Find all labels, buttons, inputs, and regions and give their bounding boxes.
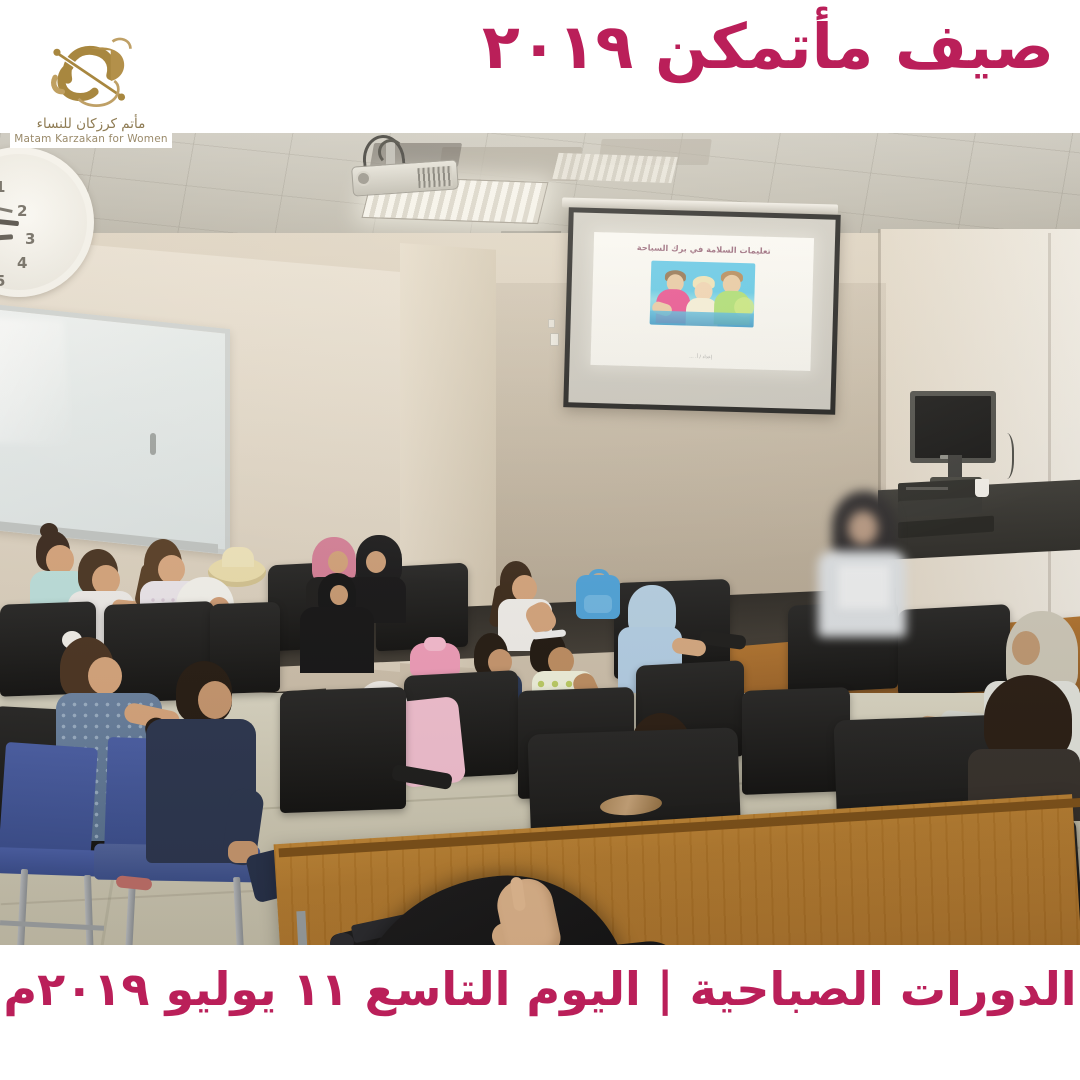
clock-hand-second bbox=[0, 198, 13, 213]
child-k-head bbox=[198, 681, 232, 719]
slide-pool-water bbox=[650, 311, 754, 328]
clock-number-5: 5 bbox=[0, 272, 5, 290]
slide-photo-children-swimming bbox=[650, 261, 756, 328]
clock-number-4: 4 bbox=[17, 254, 27, 272]
poster-root: صيف مأتمكن ٢٠١٩ مأتم كرزكان للنساء Matam… bbox=[0, 0, 1080, 1080]
clock-hand-minute bbox=[0, 234, 13, 243]
whiteboard-glare bbox=[0, 317, 72, 445]
projection-screen: تعليمات السلامة في برك السباحة bbox=[563, 207, 840, 415]
computer-monitor bbox=[910, 391, 996, 463]
wall-switch-upper bbox=[548, 319, 555, 328]
slide-title: تعليمات السلامة في برك السباحة bbox=[637, 242, 771, 256]
event-photograph: ١٢ 1 2 3 4 5 6 تعليمات السلامة في برك ال… bbox=[0, 133, 1080, 945]
woman-black-abaya-face bbox=[366, 551, 386, 573]
monitor-cable bbox=[996, 433, 1014, 479]
projector-cable-loop bbox=[378, 139, 404, 165]
projector-vent bbox=[417, 166, 452, 188]
clock-number-3: 3 bbox=[25, 230, 35, 248]
straw-hat-crown bbox=[222, 547, 254, 567]
paper-cup bbox=[975, 479, 989, 497]
wall-switch bbox=[550, 333, 559, 346]
presenter-face-blurred bbox=[848, 511, 878, 545]
woman-grey-hijab-face bbox=[1012, 631, 1040, 665]
whiteboard-handle bbox=[150, 433, 156, 455]
blue-backpack-pocket bbox=[584, 595, 612, 613]
clock-number-2: 2 bbox=[17, 202, 27, 220]
chair-mid-1 bbox=[280, 687, 406, 813]
child-e-head bbox=[512, 575, 537, 602]
blue-backpack-strap bbox=[588, 569, 610, 583]
child-l-head bbox=[88, 657, 122, 695]
projection-screen-surface: تعليمات السلامة في برك السباحة bbox=[568, 212, 835, 409]
organization-logo: مأتم كرزكان للنساء Matam Karzakan for Wo… bbox=[10, 8, 172, 148]
pc-drive-slot bbox=[906, 487, 948, 490]
logo-arabic-name: مأتم كرزكان للنساء bbox=[37, 116, 146, 132]
page-title: صيف مأتمكن ٢٠١٩ bbox=[482, 14, 1054, 79]
footer-band: الدورات الصباحية | اليوم التاسع ١١ يوليو… bbox=[0, 945, 1080, 1080]
monitor-screen bbox=[915, 396, 991, 458]
footer-caption: الدورات الصباحية | اليوم التاسع ١١ يوليو… bbox=[0, 961, 1080, 1019]
child-c-head bbox=[158, 555, 185, 584]
wall-seam-secondary bbox=[1048, 233, 1051, 613]
presenter-papers bbox=[838, 565, 890, 609]
clock-number-1: 1 bbox=[0, 178, 5, 196]
presentation-slide: تعليمات السلامة في برك السباحة bbox=[590, 232, 814, 371]
blue-chair-1-back bbox=[0, 742, 98, 864]
woman-seated-body bbox=[300, 607, 374, 673]
logo-english-name: Matam Karzakan for Women bbox=[14, 133, 167, 145]
woman-pink-hijab-face bbox=[328, 551, 348, 573]
ceiling-light-panel-secondary bbox=[552, 153, 677, 183]
pink-backpack-handle bbox=[424, 637, 446, 651]
blue-chair-1-seat bbox=[0, 847, 108, 877]
woman-seated-face bbox=[330, 585, 348, 605]
slide-subtitle: إعداد / أ. ... bbox=[689, 355, 712, 361]
calligraphy-logo-icon bbox=[37, 29, 145, 115]
